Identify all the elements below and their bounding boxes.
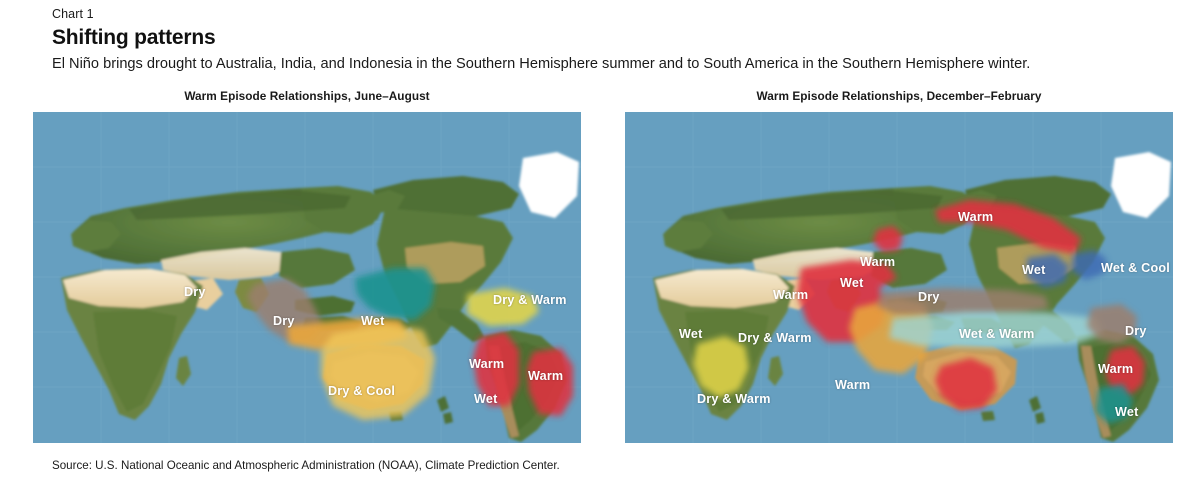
source-note: Source: U.S. National Oceanic and Atmosp… [52, 458, 560, 473]
region-wet-warm-equatorial-pacific [889, 312, 1103, 348]
chart-subtitle: El Niño brings drought to Australia, Ind… [52, 55, 1182, 74]
panel-title-left: Warm Episode Relationships, June–August [33, 89, 581, 103]
panel-title-right: Warm Episode Relationships, December–Feb… [625, 89, 1173, 103]
world-map-svg-right [625, 112, 1173, 443]
map-june-august[interactable]: Dry Dry Wet Dry & Cool Dry & Warm Warm W… [33, 112, 581, 443]
page-title: Shifting patterns [52, 25, 1182, 51]
chart-header: Chart 1 Shifting patterns El Niño brings… [52, 6, 1182, 74]
world-map-svg-left [33, 112, 581, 443]
map-december-february[interactable]: Warm Warm Wet Warm Dry & Warm Wet Dry & … [625, 112, 1173, 443]
chart-page: Chart 1 Shifting patterns El Niño brings… [0, 0, 1189, 488]
chart-kicker: Chart 1 [52, 6, 1182, 22]
